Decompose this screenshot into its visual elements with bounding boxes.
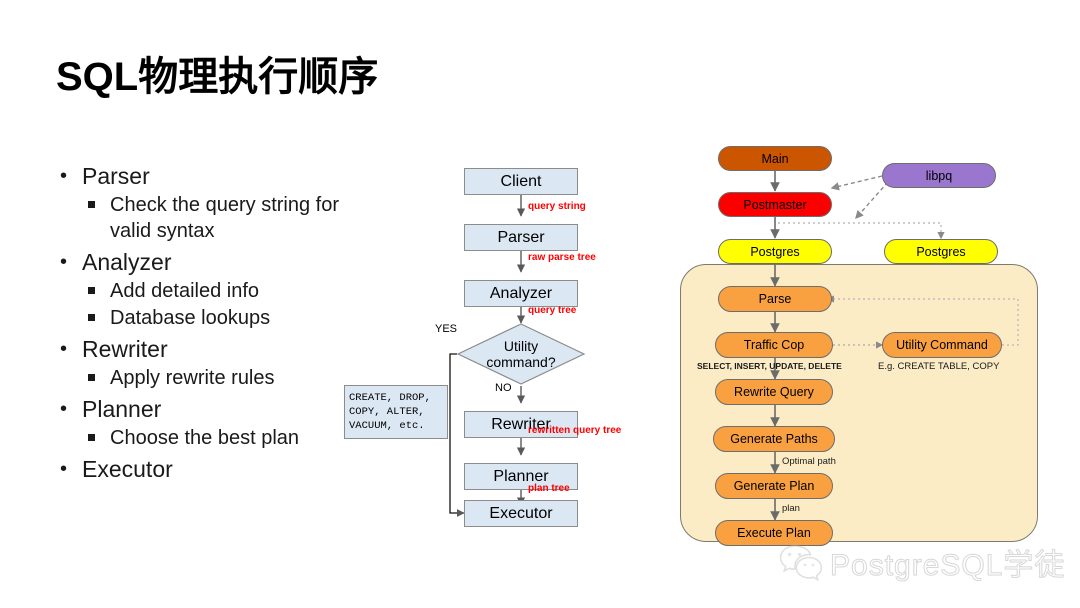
bullet-dot-icon: • — [60, 161, 67, 191]
list-item: Check the query string for valid syntax — [52, 192, 382, 244]
arch-node-label: Parse — [759, 292, 792, 306]
list-item-label: Add detailed info — [110, 280, 259, 302]
arch-node-label: libpq — [926, 169, 952, 183]
flow-node-parser: Parser — [464, 224, 578, 251]
flow-node-label: Parser — [497, 229, 544, 247]
flow-node-label: Client — [501, 173, 542, 191]
annotation-utility-example: E.g. CREATE TABLE, COPY — [878, 361, 999, 372]
list-item-label: Check the query string for valid syntax — [110, 194, 339, 242]
list-item: • Executor — [52, 454, 382, 484]
bullet-square-icon — [88, 314, 95, 321]
arch-node-label: Traffic Cop — [744, 338, 804, 352]
flow-node-label: command? — [486, 354, 555, 370]
annotation-optimal-path: Optimal path — [782, 456, 836, 467]
page-title: SQL物理执行顺序 — [56, 44, 378, 102]
arch-node-label: Rewrite Query — [734, 385, 814, 399]
note-line: VACUUM, etc. — [349, 419, 443, 433]
bullet-dot-icon: • — [60, 454, 67, 484]
note-line: COPY, ALTER, — [349, 405, 443, 419]
list-item: • Planner — [52, 394, 382, 424]
edge-label-raw-parse-tree: raw parse tree — [528, 252, 596, 263]
arch-node-label: Execute Plan — [737, 526, 811, 540]
flow-node-label: Analyzer — [490, 285, 552, 303]
list-item-label: Executor — [82, 456, 173, 482]
edge-label-query-string: query string — [528, 201, 586, 212]
list-item: Apply rewrite rules — [52, 365, 382, 391]
arch-node-label: Postmaster — [743, 198, 806, 212]
list-item-label: Analyzer — [82, 249, 171, 275]
arch-node-postmaster: Postmaster — [718, 192, 832, 217]
list-item-label: Choose the best plan — [110, 427, 299, 449]
flow-node-client: Client — [464, 168, 578, 195]
arch-node-postgres-left: Postgres — [718, 239, 832, 264]
arch-node-traffic-cop: Traffic Cop — [715, 332, 833, 358]
arch-node-label: Postgres — [916, 245, 965, 259]
list-item-label: Planner — [82, 396, 161, 422]
flow-node-utility-command-decision: Utility command? — [457, 323, 585, 385]
list-item-label: Database lookups — [110, 307, 270, 329]
list-item: Choose the best plan — [52, 425, 382, 451]
arch-node-libpq: libpq — [882, 163, 996, 188]
list-item: • Parser — [52, 161, 382, 191]
edge-label-no: NO — [495, 382, 512, 394]
note-line: CREATE, DROP, — [349, 391, 443, 405]
list-item: • Rewriter — [52, 334, 382, 364]
bullet-list: • Parser Check the query string for vali… — [52, 158, 382, 484]
edge-label-query-tree: query tree — [528, 305, 576, 316]
arch-node-parse: Parse — [718, 286, 832, 312]
bullet-square-icon — [88, 201, 95, 208]
flow-node-analyzer: Analyzer — [464, 280, 578, 307]
arch-node-generate-plan: Generate Plan — [715, 473, 833, 499]
annotation-plan: plan — [782, 503, 800, 514]
list-item: • Analyzer — [52, 247, 382, 277]
flow-node-label: Utility — [504, 338, 538, 354]
arch-node-label: Main — [761, 152, 788, 166]
arch-node-main: Main — [718, 146, 832, 171]
utility-command-examples-note: CREATE, DROP, COPY, ALTER, VACUUM, etc. — [344, 385, 448, 439]
bullet-dot-icon: • — [60, 247, 67, 277]
bullet-square-icon — [88, 434, 95, 441]
list-item-label: Apply rewrite rules — [110, 367, 275, 389]
edge-label-yes: YES — [435, 323, 457, 335]
wechat-icon — [778, 543, 824, 581]
list-item: Add detailed info — [52, 278, 382, 304]
list-item-label: Parser — [82, 163, 150, 189]
list-item-label: Rewriter — [82, 336, 168, 362]
arch-node-utility-command: Utility Command — [882, 332, 1002, 358]
list-item: Database lookups — [52, 305, 382, 331]
watermark: PostgreSQL学徒 — [778, 540, 1065, 584]
watermark-text: PostgreSQL学徒 — [830, 540, 1065, 584]
arch-node-generate-paths: Generate Paths — [713, 426, 835, 452]
postgres-architecture-diagram: Main Postmaster libpq Postgres Postgres … — [660, 138, 1060, 558]
bullet-square-icon — [88, 287, 95, 294]
edge-label-rewritten-query-tree: rewritten query tree — [528, 425, 621, 436]
arch-node-postgres-right: Postgres — [884, 239, 998, 264]
flow-node-label: Executor — [489, 505, 552, 523]
bullet-square-icon — [88, 374, 95, 381]
edge-label-plan-tree: plan tree — [528, 483, 570, 494]
arch-node-label: Generate Paths — [730, 432, 818, 446]
arch-node-label: Generate Plan — [734, 479, 815, 493]
arch-node-rewrite-query: Rewrite Query — [715, 379, 833, 405]
arch-node-label: Utility Command — [896, 338, 988, 352]
flow-node-executor: Executor — [464, 500, 578, 527]
annotation-dml-list: SELECT, INSERT, UPDATE, DELETE — [697, 361, 842, 371]
arch-node-label: Postgres — [750, 245, 799, 259]
bullet-dot-icon: • — [60, 394, 67, 424]
query-processing-flowchart: Client query string Parser raw parse tre… — [340, 160, 640, 535]
bullet-dot-icon: • — [60, 334, 67, 364]
